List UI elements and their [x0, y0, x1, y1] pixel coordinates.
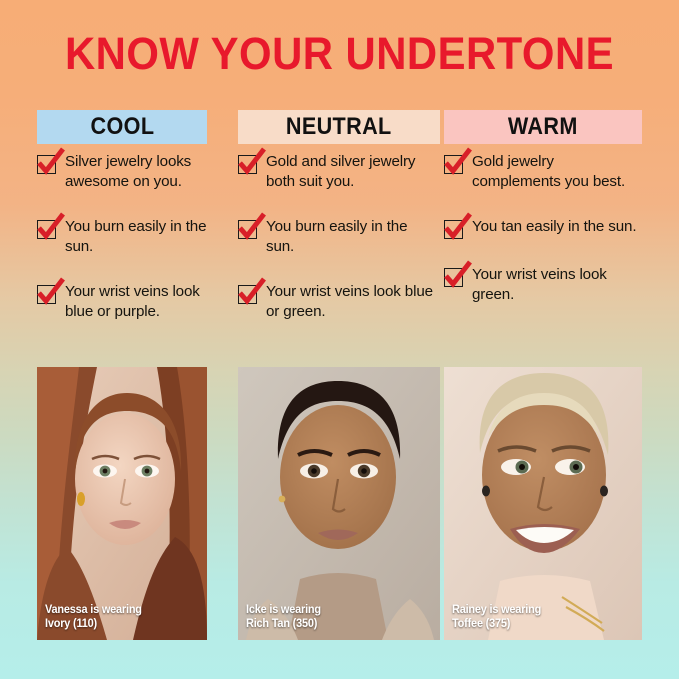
caption-line-2: Rich Tan (350) — [246, 618, 321, 632]
portrait-image — [444, 367, 642, 640]
list-item-label: Your wrist veins look green. — [472, 265, 642, 304]
page-title: KNOW YOUR UNDERTONE — [24, 28, 655, 80]
list-item-label: You tan easily in the sun. — [472, 217, 636, 239]
checklist-column-neutral: Gold and silver jewelry both suit you. Y… — [238, 152, 434, 338]
list-item: Gold and silver jewelry both suit you. — [238, 152, 434, 191]
checkbox-checked-icon — [37, 155, 56, 174]
list-item-label: You burn easily in the sun. — [65, 217, 227, 256]
list-item: Your wrist veins look green. — [444, 265, 642, 304]
caption-line-2: Ivory (110) — [45, 618, 142, 632]
photo-caption: Icke is wearing Rich Tan (350) — [246, 604, 321, 631]
list-item: You tan easily in the sun. — [444, 217, 642, 239]
caption-line-2: Toffee (375) — [452, 618, 541, 632]
model-photo-rainey: Rainey is wearing Toffee (375) — [444, 367, 642, 640]
portrait-image — [238, 367, 440, 640]
header-neutral: NEUTRAL — [238, 110, 440, 144]
list-item: You burn easily in the sun. — [238, 217, 434, 256]
checklist-column-warm: Gold jewelry complements you best. You t… — [444, 152, 642, 321]
photo-caption: Vanessa is wearing Ivory (110) — [45, 604, 142, 631]
checkbox-checked-icon — [238, 285, 257, 304]
list-item-label: Gold and silver jewelry both suit you. — [266, 152, 434, 191]
checkbox-checked-icon — [238, 220, 257, 239]
undertone-header-row: COOL NEUTRAL WARM — [0, 110, 679, 144]
header-neutral-label: NEUTRAL — [286, 113, 392, 141]
photo-caption: Rainey is wearing Toffee (375) — [452, 604, 541, 631]
list-item: You burn easily in the sun. — [37, 217, 227, 256]
checkbox-checked-icon — [37, 220, 56, 239]
checkbox-checked-icon — [37, 285, 56, 304]
checkbox-checked-icon — [238, 155, 257, 174]
list-item-label: Your wrist veins look blue or green. — [266, 282, 434, 321]
header-cool-label: COOL — [90, 113, 154, 141]
list-item-label: Silver jewelry looks awesome on you. — [65, 152, 227, 191]
list-item: Your wrist veins look blue or purple. — [37, 282, 227, 321]
infographic-canvas: KNOW YOUR UNDERTONE COOL NEUTRAL WARM Si… — [0, 0, 679, 679]
checklist-column-cool: Silver jewelry looks awesome on you. You… — [37, 152, 227, 338]
list-item: Your wrist veins look blue or green. — [238, 282, 434, 321]
checkbox-checked-icon — [444, 268, 463, 287]
list-item-label: You burn easily in the sun. — [266, 217, 434, 256]
header-warm: WARM — [444, 110, 642, 144]
caption-line-1: Rainey is wearing — [452, 604, 541, 618]
model-photo-icke: Icke is wearing Rich Tan (350) — [238, 367, 440, 640]
list-item: Silver jewelry looks awesome on you. — [37, 152, 227, 191]
list-item: Gold jewelry complements you best. — [444, 152, 642, 191]
portrait-image — [37, 367, 207, 640]
list-item-label: Your wrist veins look blue or purple. — [65, 282, 227, 321]
model-photo-vanessa: Vanessa is wearing Ivory (110) — [37, 367, 207, 640]
caption-line-1: Vanessa is wearing — [45, 604, 142, 618]
header-warm-label: WARM — [508, 113, 578, 141]
checkbox-checked-icon — [444, 220, 463, 239]
header-cool: COOL — [37, 110, 207, 144]
checkbox-checked-icon — [444, 155, 463, 174]
caption-line-1: Icke is wearing — [246, 604, 321, 618]
list-item-label: Gold jewelry complements you best. — [472, 152, 642, 191]
